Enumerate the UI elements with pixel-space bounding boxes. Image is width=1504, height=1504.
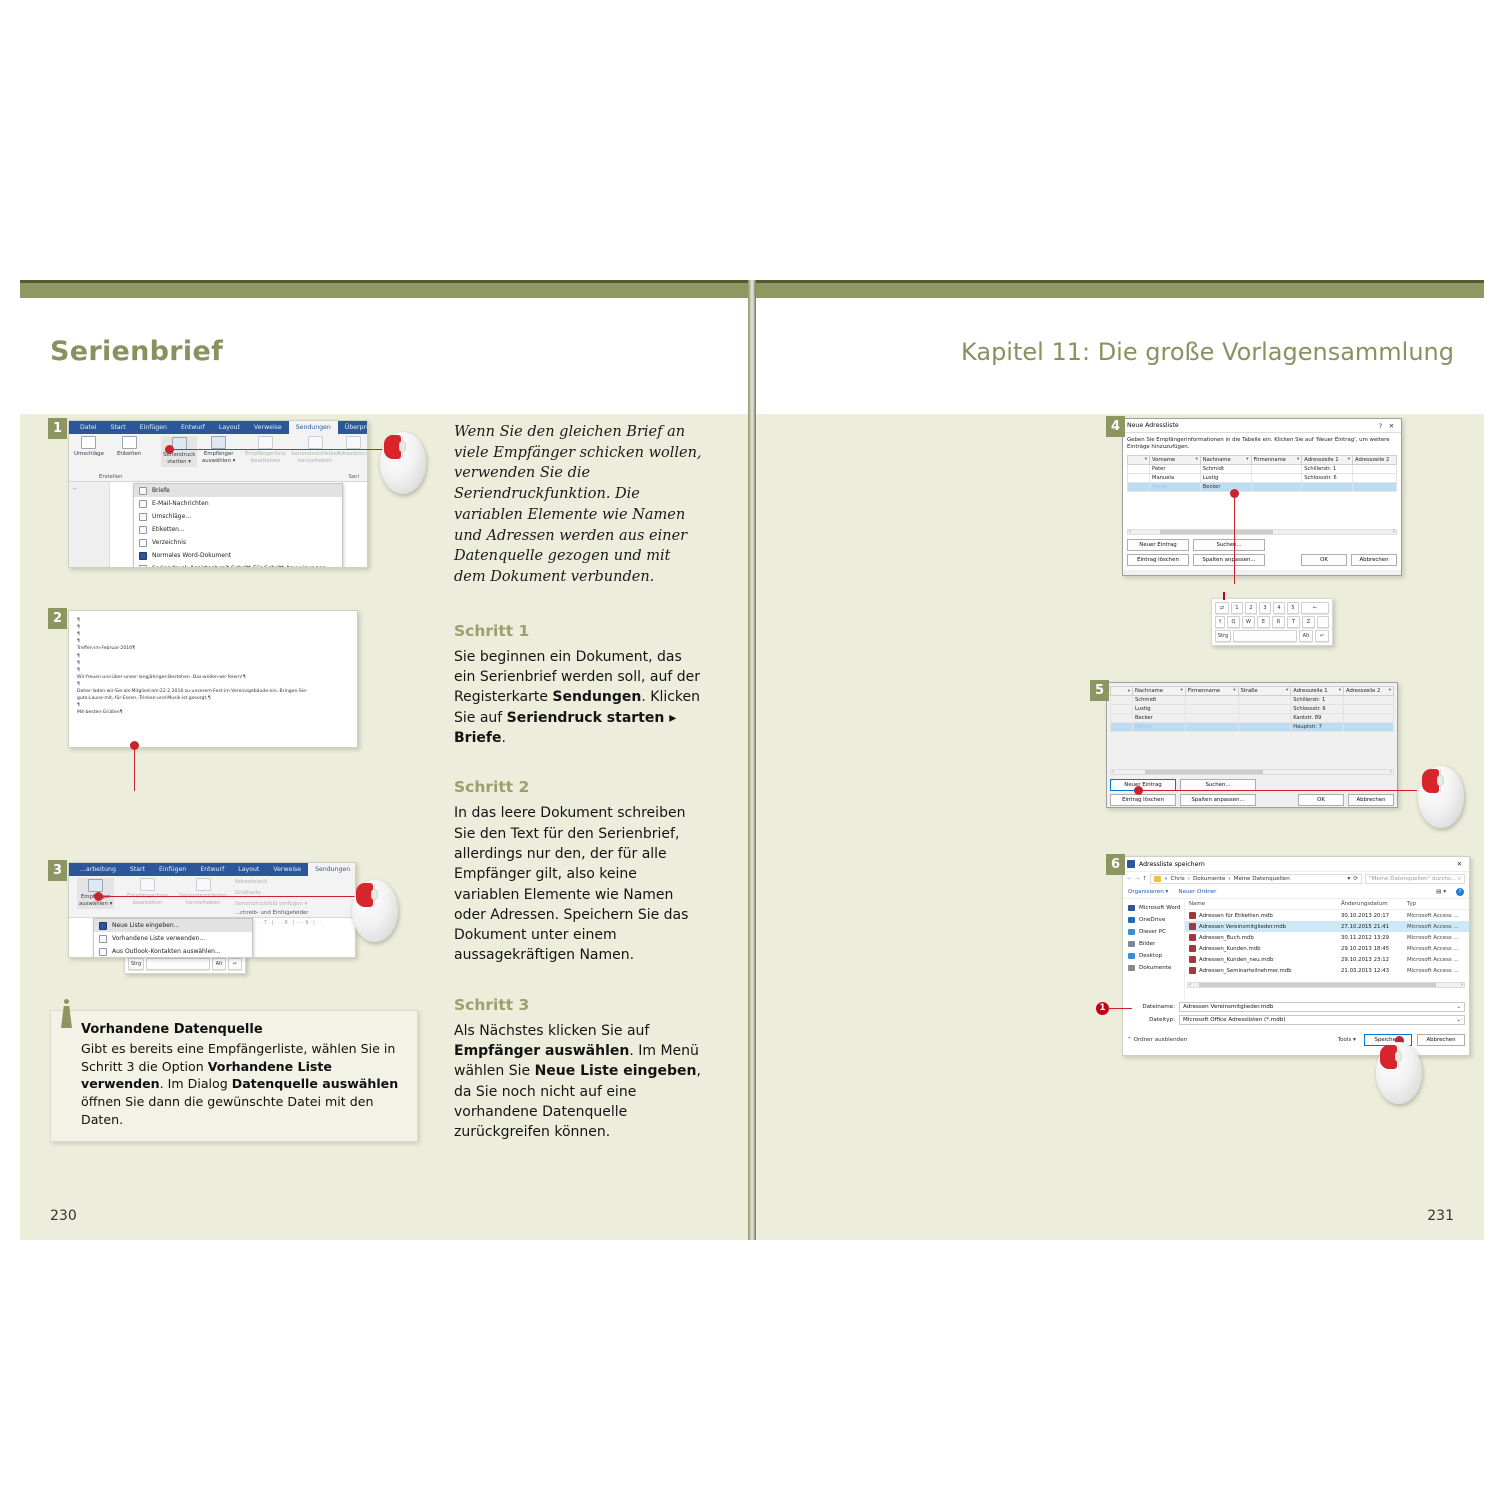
key-2[interactable]: 2	[1245, 602, 1257, 614]
cell[interactable]	[1353, 473, 1397, 482]
col-strasse[interactable]: Straße▾	[1238, 687, 1291, 696]
cell[interactable]	[1185, 705, 1238, 714]
existing-list-icon	[99, 935, 107, 943]
cell[interactable]: Peters	[1133, 723, 1186, 732]
ribbon-cmd-seriendruckfelder-hervorheben[interactable]: Seriendruckfelder hervorheben	[179, 878, 227, 907]
col-adresszeile-1[interactable]: Adresszeile 1▾	[1291, 687, 1344, 696]
doc-line: ¶	[77, 702, 349, 709]
folder-icon	[1154, 876, 1161, 882]
view-mode-icon[interactable]: ▤ ▾	[1436, 889, 1446, 895]
info-box-text: Gibt es bereits eine Empfängerliste, wäh…	[81, 1040, 403, 1128]
list-item[interactable]: Adressen_Kunden.mdb29.10.2013 18:45Micro…	[1185, 943, 1469, 954]
figure-6-badge: 6	[1106, 854, 1125, 875]
cell[interactable]	[1185, 723, 1238, 732]
ribbon-tab-verweise[interactable]: Verweise	[266, 863, 308, 876]
ribbon-cmd-empfaengerliste-bearbeiten[interactable]: Empfängerliste bearbeiten	[245, 436, 286, 465]
doc-line: ¶	[77, 624, 349, 631]
list-item[interactable]: Adressen_Buch.mdb30.11.2012 13:29Microso…	[1185, 932, 1469, 943]
eintrag-loeschen-button[interactable]: Eintrag löschen	[1127, 554, 1189, 566]
scroll-wheel	[399, 441, 406, 452]
cell[interactable]	[1344, 723, 1394, 732]
menu-item-umschlaege[interactable]: Umschläge...	[134, 510, 342, 523]
cell[interactable]: Hauptstr. 7	[1291, 723, 1344, 732]
col-vorname[interactable]: Vorname▾	[1150, 455, 1201, 464]
scrollbar-thumb[interactable]	[1160, 530, 1273, 534]
refresh-icon[interactable]: ⟳	[1353, 876, 1358, 882]
documents-icon	[1128, 965, 1135, 971]
right-page-content: Schritt 4 Im Dialog Neue Adressliste geb…	[756, 414, 1484, 1240]
keyboard-row-3: Strg Alt ↵	[1215, 630, 1329, 642]
table-row[interactable]: Manuela Lustig Schlossstr. 6	[1128, 473, 1397, 482]
key-enter[interactable]: ↵	[228, 958, 242, 970]
cmd-label: Umschläge	[74, 451, 104, 458]
sidebar-item-label: Desktop	[1139, 953, 1162, 959]
ribbon-tab-sendungen[interactable]: Sendungen	[308, 863, 356, 876]
col-adresszeile-2[interactable]: Adresszeile 2	[1353, 455, 1397, 464]
col-label: Vorname	[1152, 457, 1175, 463]
pictures-icon	[1128, 941, 1135, 947]
neue-adressliste-dialog: Neue Adressliste ? ✕ Geben Sie Empfänger…	[1122, 418, 1402, 576]
help-icon[interactable]: ?	[1456, 888, 1464, 896]
cell[interactable]: Lustig	[1200, 473, 1251, 482]
scroll-wheel	[371, 889, 378, 900]
new-list-icon	[99, 922, 107, 930]
step-1-heading: Schritt 1	[454, 622, 704, 640]
cell	[1111, 723, 1133, 732]
cell[interactable]: Lustig	[1133, 705, 1186, 714]
ribbon-tab-layout[interactable]: Layout	[212, 421, 247, 434]
spalten-anpassen-button[interactable]: Spalten anpassen...	[1180, 794, 1256, 806]
forward-icon[interactable]: →	[1135, 876, 1140, 882]
doc-line: ¶	[77, 638, 349, 645]
key-e[interactable]: E	[1257, 616, 1270, 628]
doc-line: Daher·laden·wir·Sie·als·Mitglied·am·22.2…	[77, 688, 349, 695]
keyboard-graphic-2: ⇄ 1 2 3 4 5 ← ↑ Q W E R T Z	[1211, 598, 1333, 646]
dialog-hint: Geben Sie Empfängerinformationen in die …	[1127, 437, 1397, 452]
menu-item-label: Etiketten...	[152, 526, 185, 533]
cell[interactable]	[1353, 482, 1397, 491]
ribbon-tab-bearbeitung[interactable]: ...arbeitung	[73, 863, 123, 876]
figure-3: 3 ...arbeitung Start Einfügen Entwurf La…	[50, 862, 350, 958]
horizontal-scrollbar-4[interactable]: ‹›	[1127, 529, 1397, 535]
keyboard-marker	[1223, 592, 1225, 600]
col-label: Adresszeile 2	[1346, 688, 1380, 694]
table-row-selected[interactable]: Peters Hauptstr. 7	[1111, 723, 1394, 732]
cell[interactable]	[1185, 696, 1238, 705]
key-space[interactable]	[146, 958, 210, 970]
key-r[interactable]: R	[1272, 616, 1285, 628]
menu-item-verzeichnis[interactable]: Verzeichnis	[134, 536, 342, 549]
file-type: Microsoft Access ...	[1407, 968, 1469, 974]
search-placeholder: "Meine Datenquellen" durchs...	[1369, 876, 1456, 882]
search-box[interactable]: "Meine Datenquellen" durchs... ⌕	[1365, 874, 1465, 884]
ribbon-cmd-adressblock[interactable]: Adressblock	[337, 436, 368, 458]
neuer-eintrag-button[interactable]: Neuer Eintrag	[1127, 539, 1189, 551]
help-icon[interactable]: ?	[1375, 422, 1386, 430]
cell[interactable]: Schmidt	[1133, 696, 1186, 705]
file-name: Adressen Vereinsmitglieder.mdb	[1199, 924, 1286, 930]
highlight-fields-icon	[308, 436, 323, 449]
col-select[interactable]: ▾	[1128, 455, 1150, 464]
mouse-graphic-2	[352, 880, 398, 942]
cell[interactable]	[1344, 705, 1394, 714]
figure-6: 6 Adressliste speichern ✕ ← → ↑	[1108, 856, 1468, 1056]
step-1-block: Schritt 1 Sie beginnen ein Dokument, das…	[454, 622, 704, 748]
cell[interactable]	[1302, 482, 1353, 491]
mdb-file-icon	[1189, 923, 1196, 930]
figure-2-badge: 2	[48, 608, 67, 629]
file-date: 21.03.2013 12:43	[1341, 968, 1407, 974]
ribbon-cmd-seriendruckfelder-hervorheben[interactable]: Seriendruckfelder hervorheben	[291, 436, 339, 465]
key-3[interactable]: 3	[1259, 602, 1271, 614]
abbrechen-button[interactable]: Abbrechen	[1351, 554, 1397, 566]
cell[interactable]	[1251, 464, 1302, 473]
breadcrumb[interactable]: « Chris › Dokumente › Meine Datenquellen…	[1150, 874, 1362, 884]
ribbon-tab-entwurf[interactable]: Entwurf	[193, 863, 231, 876]
close-icon[interactable]: ✕	[1454, 860, 1465, 868]
abbrechen-button[interactable]: Abbrechen	[1348, 794, 1394, 806]
explorer-file-list[interactable]: Name Änderungsdatum Typ Adressen für Eti…	[1185, 899, 1469, 999]
chapter-title: Kapitel 11: Die große Vorlagensammlung	[961, 338, 1454, 366]
table-row[interactable]: Peter Schmidt Schillerstr. 1	[1128, 464, 1397, 473]
list-item[interactable]: Adressen für Etiketten.mdb30.10.2013 20:…	[1185, 910, 1469, 921]
doc-line: ¶	[77, 617, 349, 624]
doc-line: gute·Laune·mit,·für·Essen,·Trinken·und·M…	[77, 695, 349, 702]
cell[interactable]: Schmidt	[1200, 464, 1251, 473]
address-grid-4[interactable]: ▾ Vorname▾ Nachname▾ Firmenname▾ Adressz…	[1127, 455, 1397, 492]
cell[interactable]: Kantstr. 89	[1291, 714, 1344, 723]
col-adresszeile-2[interactable]: Adresszeile 2▾	[1344, 687, 1394, 696]
step-2-heading: Schritt 2	[454, 778, 704, 796]
eintrag-loeschen-button[interactable]: Eintrag löschen	[1110, 794, 1176, 806]
file-date: 27.10.2015 21:41	[1341, 924, 1407, 930]
close-icon[interactable]: ✕	[1386, 422, 1397, 430]
key-alt[interactable]: Alt	[1299, 630, 1313, 642]
menu-item-label: Normales Word-Dokument	[152, 552, 231, 559]
dialog-titlebar-6: Adressliste speichern ✕	[1123, 857, 1469, 872]
sidebar-item-label: Dieser PC	[1139, 929, 1166, 935]
word-icon	[1128, 905, 1135, 911]
mouse-graphic-1	[380, 432, 426, 494]
cell[interactable]	[1185, 714, 1238, 723]
key-5[interactable]: 5	[1287, 602, 1299, 614]
col-select[interactable]: ▾	[1111, 687, 1133, 696]
chevron-down-icon[interactable]: ⌄	[1456, 1017, 1461, 1023]
breadcrumb-sep: «	[1164, 876, 1167, 882]
select-recipients-icon	[88, 879, 103, 892]
dialog-button-row-2: Eintrag löschen Spalten anpassen... OK A…	[1110, 794, 1394, 806]
envelope-icon	[139, 513, 147, 521]
doc-line: Treffen·im·Februar·2016¶	[77, 645, 349, 652]
cmd-label: Etiketten	[117, 451, 141, 458]
scrollbar-thumb[interactable]	[1199, 983, 1436, 987]
mdb-file-icon	[1189, 967, 1196, 974]
doc-line: ¶	[77, 631, 349, 638]
cmd-label: Empfängerliste bearbeiten	[245, 451, 286, 465]
info-text-bold: Datenquelle auswählen	[232, 1076, 398, 1091]
mouse-graphic-4	[1376, 1042, 1422, 1104]
filetype-select[interactable]: Microsoft Office Adresslisten (*.mdb)⌄	[1179, 1015, 1465, 1025]
file-type: Microsoft Access ...	[1407, 946, 1469, 952]
mdb-file-icon	[1189, 912, 1196, 919]
tools-button[interactable]: Tools ▾	[1338, 1037, 1356, 1043]
callout-line-4	[1234, 496, 1235, 584]
seriendruck-starten-menu[interactable]: Briefe E-Mail-Nachrichten Umschläge... E…	[133, 483, 343, 568]
ribbon-group-seri: Seri	[349, 474, 359, 480]
left-page-header: Serienbrief	[20, 298, 748, 414]
back-icon[interactable]: ←	[1127, 876, 1132, 882]
horizontal-scrollbar-6[interactable]: ‹›	[1187, 982, 1465, 988]
cmd-label: Seriendruckfelder hervorheben	[291, 451, 339, 465]
key-t[interactable]: T	[1287, 616, 1300, 628]
breadcrumb-meine-datenquellen[interactable]: Meine Datenquellen	[1234, 876, 1290, 882]
table-row[interactable]: Schmidt Schillerstr. 1	[1111, 696, 1394, 705]
ribbon-tab-ueberpruefen[interactable]: Überprüfen	[338, 421, 368, 434]
ribbon-body-3: Empfänger auswählen ▾ Empfängerliste bea…	[69, 876, 355, 918]
menu-item-neue-liste-eingeben[interactable]: Neue Liste eingeben...	[94, 919, 252, 932]
scrollbar-thumb[interactable]	[1145, 770, 1263, 774]
cell[interactable]	[1238, 714, 1291, 723]
key-4[interactable]: 4	[1273, 602, 1285, 614]
cell[interactable]: Manuela	[1150, 473, 1201, 482]
sidebar-item-microsoft-word[interactable]: Microsoft Word	[1123, 902, 1184, 914]
list-item[interactable]: Adressen_Kunden_neu.mdb29.10.2013 23:12M…	[1185, 954, 1469, 965]
breadcrumb-chris[interactable]: Chris	[1171, 876, 1185, 882]
neuer-ordner-button[interactable]: Neuer Ordner	[1178, 889, 1216, 895]
list-item-selected[interactable]: Adressen Vereinsmitglieder.mdb27.10.2015…	[1185, 921, 1469, 932]
cmd-label: Empfänger auswählen ▾	[202, 451, 235, 465]
left-page-number: 230	[50, 1208, 77, 1224]
col-typ[interactable]: Typ	[1407, 901, 1469, 907]
file-type: Microsoft Access ...	[1407, 935, 1469, 941]
key-backspace[interactable]: ←	[1301, 602, 1329, 614]
sidebar-item-onedrive[interactable]: OneDrive	[1123, 914, 1184, 926]
menu-item-vorhandene-liste-verwenden[interactable]: Vorhandene Liste verwenden...	[94, 932, 252, 945]
ribbon-tab-einfuegen[interactable]: Einfügen	[133, 421, 174, 434]
right-page-number: 231	[1427, 1208, 1454, 1224]
t-bold: Sendungen	[552, 689, 641, 705]
file-date: 29.10.2013 18:45	[1341, 946, 1407, 952]
mdb-file-icon	[1189, 956, 1196, 963]
left-text-column: Wenn Sie den gleichen Brief an viele Emp…	[454, 422, 704, 1173]
menu-item-etiketten[interactable]: Etiketten...	[134, 523, 342, 536]
sidebar-item-label: Microsoft Word	[1139, 905, 1181, 911]
word-ribbon-screenshot-1: Datei Start Einfügen Entwurf Layout Verw…	[68, 420, 368, 568]
table-row[interactable]: Lustig Schlossstr. 6	[1111, 705, 1394, 714]
ribbon-tab-start[interactable]: Start	[123, 863, 152, 876]
list-item[interactable]: Adressen_Seminarteilnehmer.mdb21.03.2013…	[1185, 965, 1469, 976]
dialog-button-row-2: Eintrag löschen Spalten anpassen... OK A…	[1127, 554, 1397, 566]
cell[interactable]	[1344, 696, 1394, 705]
key-strg[interactable]: Strg	[1215, 630, 1231, 642]
col-adresszeile-1[interactable]: Adresszeile 1▾	[1302, 455, 1353, 464]
figure-1: 1 Datei Start Einfügen Entwurf Layout Ve…	[50, 420, 360, 568]
t: .	[501, 730, 505, 746]
sidebar-item-label: OneDrive	[1139, 917, 1165, 923]
doc-line: Wir·freuen·uns·über·unser·langjähriges·B…	[77, 674, 349, 681]
ribbon-cmd-empfaenger-auswaehlen[interactable]: Empfänger auswählen ▾	[202, 436, 235, 465]
cmd-label: Seriendruck starten ▾	[163, 452, 195, 466]
word-doc-icon	[139, 552, 147, 560]
cmd-label: Adressblock	[337, 451, 368, 458]
cell[interactable]: Heinz	[1150, 482, 1201, 491]
sidebar-item-desktop[interactable]: Desktop	[1123, 950, 1184, 962]
cell[interactable]: Schlossstr. 6	[1291, 705, 1344, 714]
key-shift[interactable]: ↑	[1215, 616, 1225, 628]
cell	[1128, 482, 1150, 491]
menu-item-label: Neue Liste eingeben...	[112, 922, 179, 929]
ok-button[interactable]: OK	[1298, 794, 1344, 806]
key-1[interactable]: 1	[1231, 602, 1243, 614]
file-name: Adressen_Kunden_neu.mdb	[1199, 957, 1273, 963]
info-icon	[60, 999, 73, 1035]
cell[interactable]	[1251, 482, 1302, 491]
desktop-icon	[1128, 953, 1135, 959]
chevron-down-icon[interactable]: ▾	[1348, 876, 1351, 882]
table-row[interactable]: Becker Kantstr. 89	[1111, 714, 1394, 723]
horizontal-scrollbar-5[interactable]: ‹›	[1110, 769, 1394, 775]
file-type: Microsoft Access ...	[1407, 913, 1469, 919]
menu-item-normales-word-dokument[interactable]: Normales Word-Dokument	[134, 549, 342, 562]
ribbon-tab-layout[interactable]: Layout	[231, 863, 266, 876]
callout-line-2	[134, 746, 135, 791]
sidebar-item-dokumente[interactable]: Dokumente	[1123, 962, 1184, 974]
step-2-block: Schritt 2 In das leere Dokument schreibe…	[454, 778, 704, 965]
doc-line: ¶	[77, 667, 349, 674]
menu-item-briefe[interactable]: Briefe	[134, 484, 342, 497]
info-box-vorhandene-datenquelle: Vorhandene Datenquelle Gibt es bereits e…	[50, 1010, 418, 1142]
spalten-anpassen-button[interactable]: Spalten anpassen...	[1193, 554, 1265, 566]
adressliste-speichern-dialog: Adressliste speichern ✕ ← → ↑ « Chris ›	[1122, 856, 1470, 1056]
col-nachname[interactable]: Nachname▾	[1133, 687, 1186, 696]
file-date: 30.11.2012 13:29	[1341, 935, 1407, 941]
sidebar-item-dieser-pc[interactable]: Dieser PC	[1123, 926, 1184, 938]
key-enter[interactable]: ↵	[1315, 630, 1329, 642]
ribbon-tab-verweise[interactable]: Verweise	[247, 421, 289, 434]
ordner-ausblenden-button[interactable]: ⌃ Ordner ausblenden	[1127, 1037, 1187, 1043]
cell[interactable]: Peter	[1150, 464, 1201, 473]
menu-item-label: Verzeichnis	[152, 539, 186, 546]
cell[interactable]: Becker	[1133, 714, 1186, 723]
sidebar-item-bilder[interactable]: Bilder	[1123, 938, 1184, 950]
menu-item-outlook-kontakte[interactable]: Aus Outlook-Kontakten auswählen...	[94, 945, 252, 958]
suchen-button[interactable]: Suchen...	[1193, 539, 1265, 551]
breadcrumb-dokumente[interactable]: Dokumente	[1193, 876, 1225, 882]
key-space[interactable]	[1233, 630, 1297, 642]
explorer-sidebar: Microsoft Word OneDrive Dieser PC Bilder…	[1123, 899, 1185, 999]
key-alt[interactable]: Alt	[212, 958, 226, 970]
empfaenger-auswaehlen-menu[interactable]: Neue Liste eingeben... Vorhandene Liste …	[93, 918, 253, 958]
ribbon-cmd-empfaengerliste-bearbeiten[interactable]: Empfängerliste bearbeiten	[127, 878, 168, 907]
word-document-screenshot: ¶ ¶ ¶ ¶ Treffen·im·Februar·2016¶ ¶ ¶ ¶ W…	[68, 610, 358, 748]
cell[interactable]: Schillerstr. 1	[1291, 696, 1344, 705]
col-aenderungsdatum[interactable]: Änderungsdatum	[1341, 901, 1407, 907]
col-firmenname[interactable]: Firmenname▾	[1251, 455, 1302, 464]
cell[interactable]	[1238, 723, 1291, 732]
col-name[interactable]: Name	[1185, 901, 1341, 907]
ribbon-tabs-3: ...arbeitung Start Einfügen Entwurf Layo…	[69, 863, 355, 876]
up-icon[interactable]: ↑	[1142, 876, 1147, 882]
address-block-icon	[346, 436, 361, 449]
pc-icon	[1128, 929, 1135, 935]
cell[interactable]	[1238, 696, 1291, 705]
item-seriendruckfeld-einfuegen[interactable]: Seriendruckfeld einfügen ▾	[235, 901, 307, 908]
filename-value: Adressen Vereinsmitglieder.mdb	[1183, 1004, 1273, 1010]
mdb-file-icon	[1189, 945, 1196, 952]
cell[interactable]: Schillerstr. 1	[1302, 464, 1353, 473]
intro-paragraph: Wenn Sie den gleichen Brief an viele Emp…	[454, 422, 704, 588]
ribbon-group-schreib-einfuegefelder: ...chreib- und Einfügefelder	[235, 910, 309, 916]
explorer-navigation: ← → ↑ « Chris › Dokumente › Meine Datenq…	[1123, 872, 1469, 886]
ribbon-tab-entwurf[interactable]: Entwurf	[174, 421, 212, 434]
ok-button[interactable]: OK	[1301, 554, 1347, 566]
breadcrumb-sep: ›	[1228, 876, 1230, 882]
key-z[interactable]: Z	[1302, 616, 1315, 628]
outlook-contacts-icon	[99, 948, 107, 956]
cell[interactable]	[1238, 705, 1291, 714]
callout-line-6a	[1108, 1008, 1132, 1009]
letter-icon	[139, 487, 147, 495]
key-strg[interactable]: Strg	[128, 958, 144, 970]
cell[interactable]	[1251, 473, 1302, 482]
ribbon-tab-sendungen[interactable]: Sendungen	[289, 421, 338, 434]
col-label: Adresszeile 2	[1355, 457, 1389, 463]
ribbon-cmd-etiketten[interactable]: Etiketten	[117, 436, 141, 458]
organisieren-button[interactable]: Organisieren ▾	[1128, 889, 1168, 895]
col-nachname[interactable]: Nachname▾	[1200, 455, 1251, 464]
cell[interactable]	[1344, 714, 1394, 723]
figure-4-badge: 4	[1106, 416, 1125, 437]
ribbon-tab-datei[interactable]: Datei	[73, 421, 104, 434]
key-w[interactable]: W	[1242, 616, 1255, 628]
abbrechen-button[interactable]: Abbrechen	[1417, 1034, 1465, 1046]
menu-item-email[interactable]: E-Mail-Nachrichten	[134, 497, 342, 510]
chevron-down-icon[interactable]: ⌄	[1456, 1004, 1461, 1010]
table-row-selected[interactable]: Heinz Becker	[1128, 482, 1397, 491]
ribbon-cmd-umschlaege[interactable]: Umschläge	[74, 436, 104, 458]
dialog-title: Neue Adressliste	[1127, 422, 1179, 429]
ribbon-tab-einfuegen[interactable]: Einfügen	[152, 863, 193, 876]
file-name: Adressen für Etiketten.mdb	[1199, 913, 1273, 919]
key-blank[interactable]	[1317, 616, 1329, 628]
dialog-titlebar-4: Neue Adressliste ? ✕	[1123, 419, 1401, 433]
figure-1-badge: 1	[48, 418, 67, 439]
col-firmenname[interactable]: Firmenname▾	[1185, 687, 1238, 696]
save-fields: Dateiname: Adressen Vereinsmitglieder.md…	[1123, 999, 1469, 1031]
item-adressblock[interactable]: Adressblock	[235, 879, 307, 886]
figure-4: 4 Neue Adressliste ? ✕ Geben Sie Empfäng…	[1108, 418, 1398, 576]
ribbon-tab-start[interactable]: Start	[104, 421, 133, 434]
cell[interactable]	[1353, 464, 1397, 473]
cell	[1111, 714, 1133, 723]
cell[interactable]: Schlossstr. 6	[1302, 473, 1353, 482]
labels-icon	[122, 436, 137, 449]
key-tab[interactable]: ⇄	[1215, 602, 1229, 614]
col-label: Adresszeile 1	[1304, 457, 1338, 463]
doc-line: Mit·besten·Grüßen¶	[77, 709, 349, 716]
explorer-main: Microsoft Word OneDrive Dieser PC Bilder…	[1123, 899, 1469, 999]
address-grid-5[interactable]: ▾ Nachname▾ Firmenname▾ Straße▾ Adressze…	[1110, 686, 1394, 732]
cell[interactable]: Becker	[1200, 482, 1251, 491]
file-name: Adressen_Kunden.mdb	[1199, 946, 1261, 952]
keyboard-row-1: ⇄ 1 2 3 4 5 ←	[1215, 602, 1329, 614]
menu-item-label: Umschläge...	[152, 513, 191, 520]
step-3-heading: Schritt 3	[454, 996, 704, 1014]
menu-item-label: Seriendruck-Assistent mit Schritt-Für-Sc…	[152, 565, 332, 568]
menu-item-seriendruck-assistent[interactable]: Seriendruck-Assistent mit Schritt-Für-Sc…	[134, 562, 342, 568]
filename-input[interactable]: Adressen Vereinsmitglieder.mdb⌄	[1179, 1002, 1465, 1012]
key-q[interactable]: Q	[1227, 616, 1240, 628]
